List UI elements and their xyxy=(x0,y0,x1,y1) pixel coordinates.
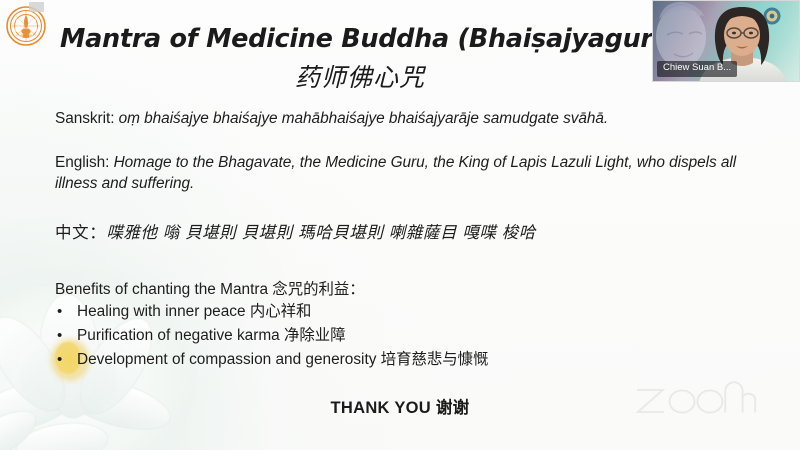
chinese-text: 喋雅他 嗡 貝堪則 貝堪則 瑪哈貝堪則 喇雜薩目 嘎喋 梭哈 xyxy=(106,224,536,242)
bullet-icon: • xyxy=(57,324,62,347)
benefits-heading: Benefits of chanting the Mantra 念咒的利益： xyxy=(55,277,365,299)
participant-name-label: Chiew Suan B... xyxy=(657,61,737,77)
list-item-text: Healing with inner peace 内心祥和 xyxy=(77,303,311,320)
thank-you-text: THANK YOU 谢谢 xyxy=(0,394,800,418)
english-text: Homage to the Bhagavate, the Medicine Gu… xyxy=(55,154,736,192)
english-line: English: Homage to the Bhagavate, the Me… xyxy=(55,152,755,195)
bullet-icon: • xyxy=(57,348,62,371)
sanskrit-label: Sanskrit: xyxy=(55,110,119,127)
participant-video-tile[interactable]: Chiew Suan B... xyxy=(652,0,800,82)
list-item: • Purification of negative karma 净除业障 xyxy=(55,324,705,348)
zoom-shared-screen-slide: Mantra of Medicine Buddha (Bhaiṣajyaguru… xyxy=(0,0,800,450)
bullet-icon: • xyxy=(57,300,62,323)
chinese-line: 中文：喋雅他 嗡 貝堪則 貝堪則 瑪哈貝堪則 喇雜薩目 嘎喋 梭哈 xyxy=(55,222,755,245)
list-item-text: Development of compassion and generosity… xyxy=(77,351,488,368)
chinese-label: 中文： xyxy=(55,224,106,242)
english-label: English: xyxy=(55,154,114,171)
list-item: • Development of compassion and generosi… xyxy=(55,348,705,372)
slide-title-block: Mantra of Medicine Buddha (Bhaiṣajyaguru… xyxy=(60,24,660,94)
sanskrit-line: Sanskrit: oṃ bhaiśajye bhaiśajye mahābha… xyxy=(55,108,755,129)
list-item-text: Purification of negative karma 净除业障 xyxy=(77,327,346,344)
benefits-list: • Healing with inner peace 内心祥和 • Purifi… xyxy=(55,300,705,372)
slide-title-chinese: 药师佛心咒 xyxy=(60,58,660,94)
sanskrit-text: oṃ bhaiśajye bhaiśajye mahābhaiśajye bha… xyxy=(119,110,608,127)
list-item: • Healing with inner peace 内心祥和 xyxy=(55,300,705,324)
slide-title-english: Mantra of Medicine Buddha (Bhaiṣajyaguru… xyxy=(60,24,660,54)
